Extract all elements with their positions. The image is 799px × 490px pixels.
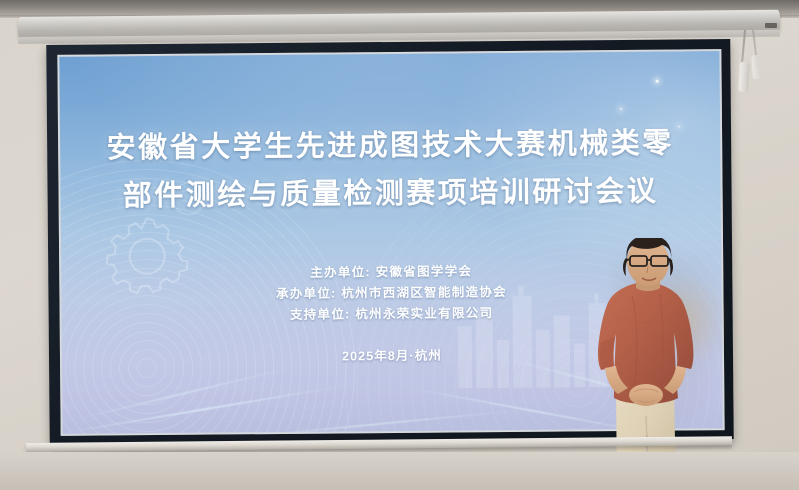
room-photo-scene: 安徽省大学生先进成图技术大赛机械类零 部件测绘与质量检测赛项培训研讨会议 主办单… (0, 0, 799, 490)
slide-title-line-1: 安徽省大学生先进成图技术大赛机械类零 (60, 119, 720, 173)
pull-cord-toggle[interactable] (738, 62, 750, 92)
slide-title-line-2: 部件测绘与质量检测赛项培训研讨会议 (60, 167, 720, 221)
person-head (623, 238, 673, 286)
roller-end-cap (765, 23, 777, 28)
pull-cord-toggle-secondary[interactable] (751, 55, 762, 80)
lower-wall (0, 452, 799, 490)
slide-title: 安徽省大学生先进成图技术大赛机械类零 部件测绘与质量检测赛项培训研讨会议 (60, 119, 721, 221)
